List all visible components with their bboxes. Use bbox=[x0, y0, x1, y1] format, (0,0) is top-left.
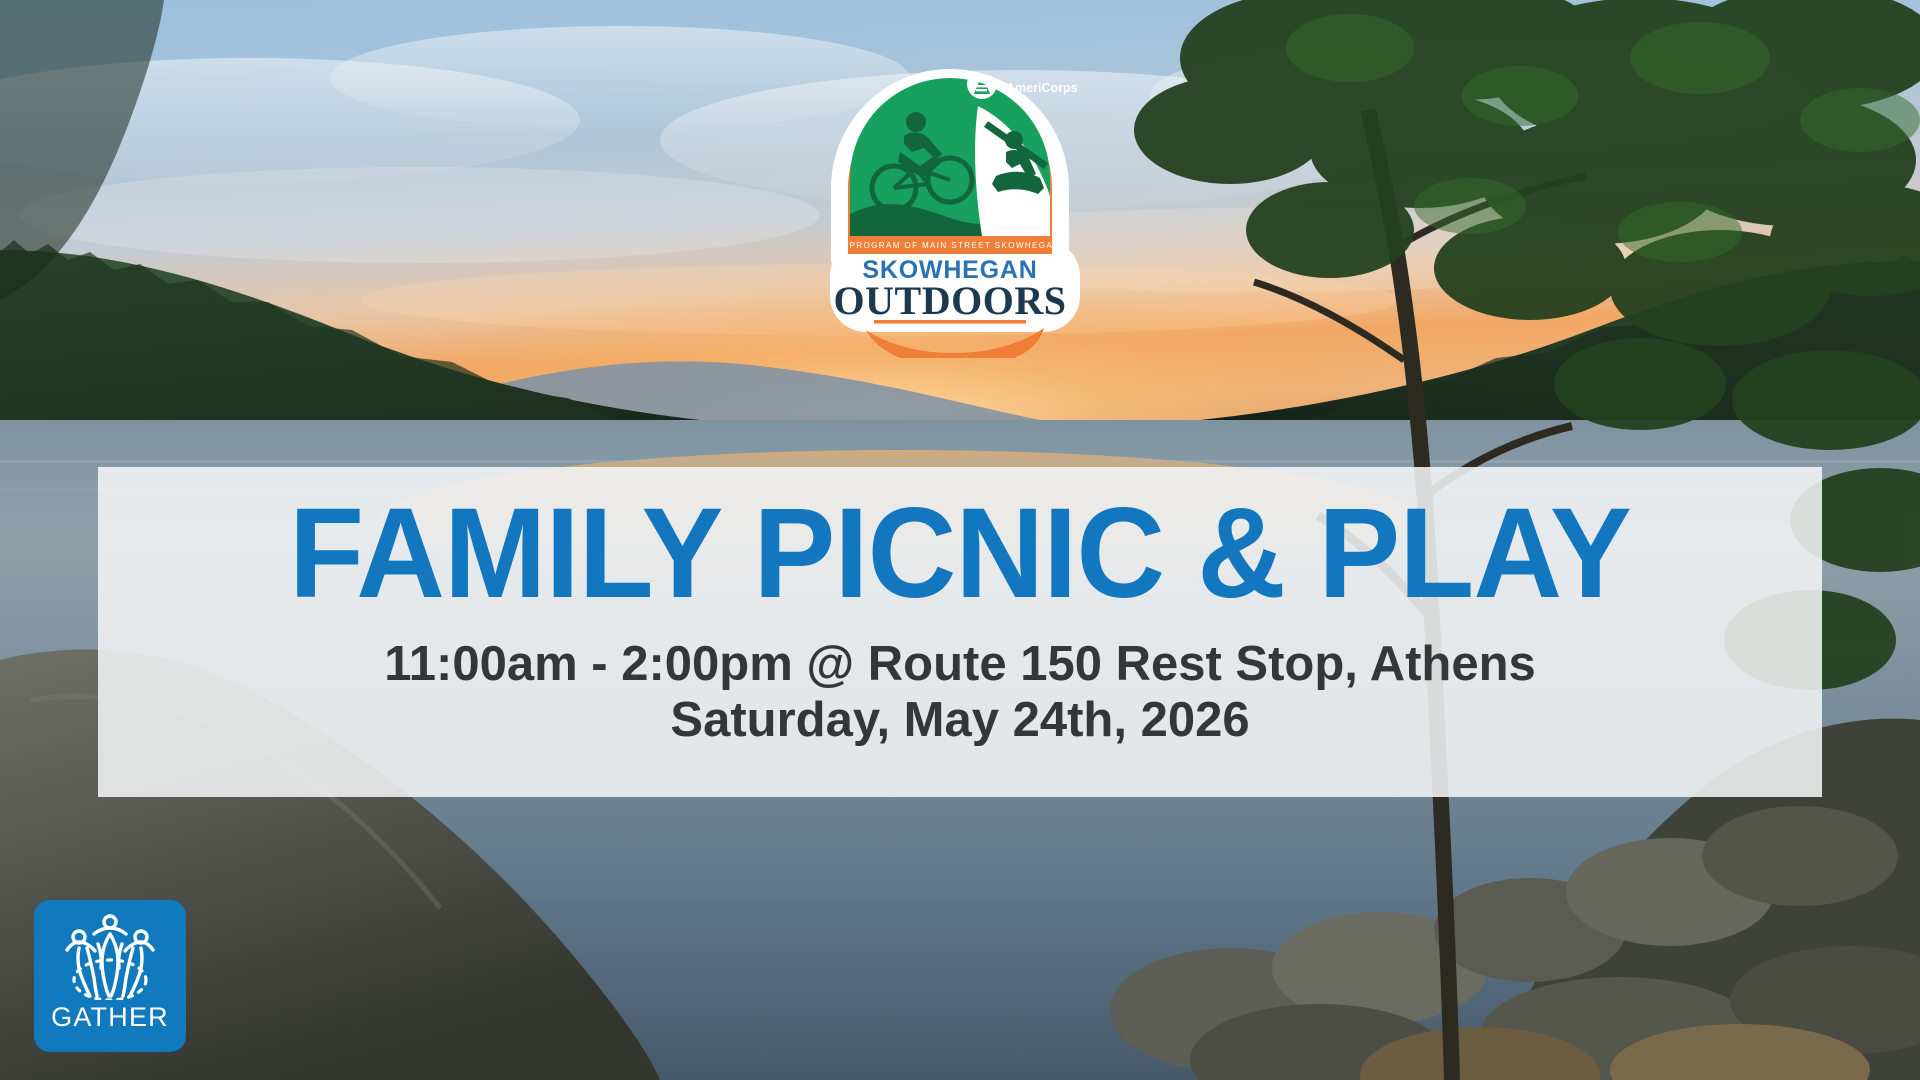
americorps-label: AmeriCorps bbox=[1006, 81, 1078, 95]
program-line: A PROGRAM OF MAIN STREET SKOWHEGAN bbox=[840, 241, 1061, 250]
dashed-circle bbox=[74, 960, 146, 1000]
wordmark-outdoors: OUTDOORS bbox=[834, 278, 1067, 323]
orange-rule bbox=[874, 320, 1026, 324]
event-date: Saturday, May 24th, 2026 bbox=[670, 692, 1249, 749]
gather-logo: GATHER bbox=[34, 900, 186, 1052]
gather-label: GATHER bbox=[51, 1002, 169, 1033]
event-time-location: 11:00am - 2:00pm @ Route 150 Rest Stop, … bbox=[384, 636, 1536, 693]
three-people-raised-arms-icon bbox=[54, 908, 166, 1000]
orange-swoosh bbox=[866, 328, 1044, 358]
event-banner: FAMILY PICNIC & PLAY 11:00am - 2:00pm @ … bbox=[98, 467, 1822, 797]
badge-graphic: AmeriCorps A PROGRAM OF MAIN STREET SKOW… bbox=[800, 28, 1130, 358]
skowhegan-outdoors-logo: AmeriCorps A PROGRAM OF MAIN STREET SKOW… bbox=[800, 28, 1130, 358]
event-title: FAMILY PICNIC & PLAY bbox=[289, 489, 1631, 620]
